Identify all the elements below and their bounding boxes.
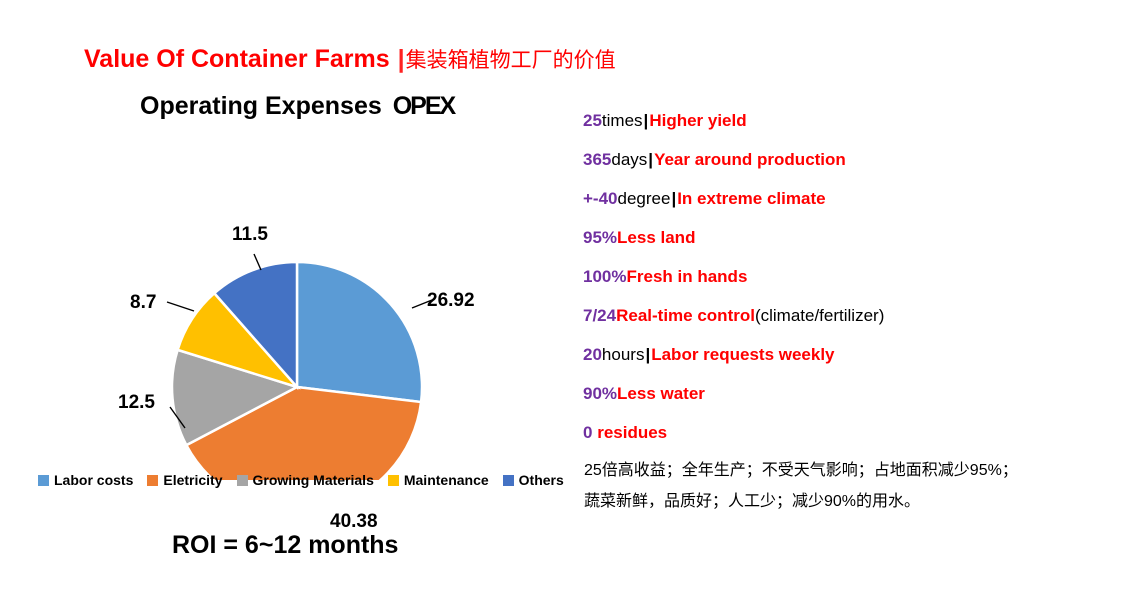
legend-item-eletricity[interactable]: Eletricity [147, 473, 222, 487]
benefit-row: 20hours|Labor requests weekly [583, 342, 1138, 381]
legend-swatch-growing-materials [237, 475, 248, 486]
page-title: Value Of Container Farms |集装箱植物工厂的价值 [84, 44, 616, 74]
benefit-number: 7/24 [583, 306, 616, 325]
legend-label-maintenance: Maintenance [404, 473, 489, 487]
legend-label-eletricity: Eletricity [163, 473, 222, 487]
benefit-number: 95% [583, 228, 617, 247]
opex-chart-panel: Operating Expenses OPEX 26.92 40.38 12.5… [0, 80, 570, 510]
legend-label-others: Others [519, 473, 564, 487]
benefit-description: Less land [617, 228, 695, 247]
benefit-description: Year around production [654, 150, 846, 169]
benefit-row: 100%Fresh in hands [583, 264, 1138, 303]
benefit-unit: times [602, 111, 643, 130]
benefit-number: 90% [583, 384, 617, 403]
benefit-number: 25 [583, 111, 602, 130]
benefit-description: In extreme climate [677, 189, 825, 208]
benefit-row: +-40degree|In extreme climate [583, 186, 1138, 225]
pie-label-growing-materials: 12.5 [118, 392, 155, 414]
legend-item-others[interactable]: Others [503, 473, 564, 487]
page-title-english: Value Of Container Farms [84, 45, 397, 73]
benefit-row: 365days|Year around production [583, 147, 1138, 186]
benefit-unit: hours [602, 345, 645, 364]
chart-legend: Labor costsEletricityGrowing MaterialsMa… [38, 473, 558, 487]
benefit-unit: degree [618, 189, 671, 208]
pie-label-maintenance: 8.7 [130, 292, 156, 314]
chinese-summary: 25倍高收益；全年生产；不受天气影响；占地面积减少95%； 蔬菜新鲜，品质好；人… [584, 455, 1124, 517]
chinese-summary-line-1: 25倍高收益；全年生产；不受天气影响；占地面积减少95%； [584, 455, 1124, 486]
pie-chart: 26.92 40.38 12.5 8.7 11.5 [0, 80, 570, 480]
legend-item-labor-costs[interactable]: Labor costs [38, 473, 133, 487]
benefits-list: 25times|Higher yield365days|Year around … [583, 108, 1138, 459]
benefit-row: 95%Less land [583, 225, 1138, 264]
pie-slice-group [172, 262, 422, 480]
legend-item-growing-materials[interactable]: Growing Materials [237, 473, 374, 487]
roi-text: ROI = 6~12 months [172, 531, 398, 560]
pie-label-labor-costs: 26.92 [427, 290, 475, 312]
benefit-description: Labor requests weekly [651, 345, 834, 364]
legend-label-labor-costs: Labor costs [54, 473, 133, 487]
benefit-row: 0 residues [583, 420, 1138, 459]
benefit-number: +-40 [583, 189, 618, 208]
page-title-separator: | [397, 45, 406, 73]
benefit-description: Real-time control [616, 306, 755, 325]
benefit-row: 25times|Higher yield [583, 108, 1138, 147]
benefit-unit: days [611, 150, 647, 169]
legend-label-growing-materials: Growing Materials [253, 473, 374, 487]
legend-swatch-eletricity [147, 475, 158, 486]
benefit-description: residues [597, 423, 667, 442]
benefit-row: 90%Less water [583, 381, 1138, 420]
pie-chart-svg [0, 80, 570, 480]
legend-swatch-maintenance [388, 475, 399, 486]
page-title-chinese: 集装箱植物工厂的价值 [406, 49, 616, 72]
benefit-description: Less water [617, 384, 705, 403]
benefit-number: 365 [583, 150, 611, 169]
pie-label-eletricity: 40.38 [330, 511, 378, 533]
legend-swatch-labor-costs [38, 475, 49, 486]
benefit-description: Fresh in hands [626, 267, 747, 286]
benefit-number: 20 [583, 345, 602, 364]
benefit-row: 7/24Real-time control(climate/fertilizer… [583, 303, 1138, 342]
legend-item-maintenance[interactable]: Maintenance [388, 473, 489, 487]
leader-line-maintenance [167, 302, 194, 311]
chinese-summary-line-2: 蔬菜新鲜，品质好；人工少；减少90%的用水。 [584, 486, 1124, 517]
pie-slice-labor-costs[interactable] [297, 262, 422, 402]
pie-label-others: 11.5 [232, 224, 268, 246]
benefit-note: (climate/fertilizer) [755, 306, 884, 325]
legend-swatch-others [503, 475, 514, 486]
benefit-number: 100% [583, 267, 626, 286]
benefit-description: Higher yield [649, 111, 746, 130]
